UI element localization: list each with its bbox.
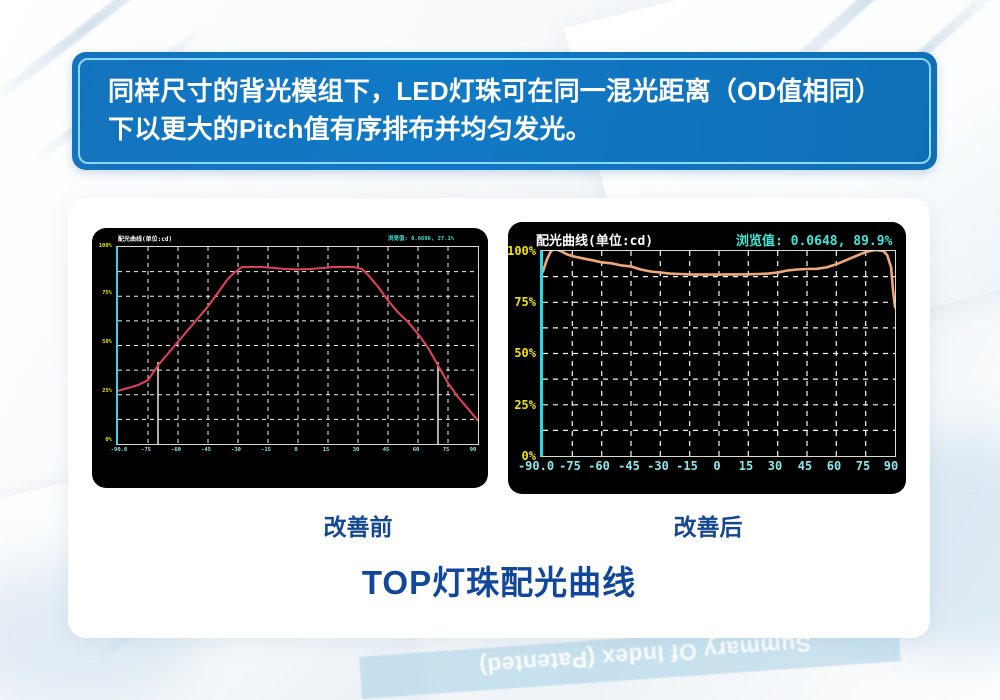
x-tick-before-0: 0: [281, 447, 311, 453]
callout-text: 同样尺寸的背光模组下，LED灯珠可在同一混光距离（OD值相同）下以更大的Pitc…: [108, 72, 907, 148]
caption-after: 改善后: [578, 508, 838, 542]
x-tick-before-90: 90: [458, 447, 488, 453]
y-tick-after-25: 25%: [508, 398, 536, 412]
y-tick-before-50: 50%: [92, 339, 112, 345]
x-tick-before-15: 15: [311, 447, 341, 453]
chart-svg-before: [118, 247, 478, 444]
chart-title-before: 配光曲线(单位:cd): [118, 234, 172, 243]
x-tick-before--45: -45: [191, 447, 221, 453]
x-tick-before-45: 45: [371, 447, 401, 453]
x-tick-before--30: -30: [221, 447, 251, 453]
chart-title-after: 配光曲线(单位:cd): [536, 230, 653, 249]
y-tick-after-50: 50%: [508, 346, 536, 360]
y-tick-before-100: 100%: [92, 243, 112, 249]
x-tick-before--60: -60: [161, 447, 191, 453]
chart-svg-after: [543, 251, 895, 456]
x-tick-after-90: 90: [868, 459, 906, 473]
x-tick-before--90: -90.0: [104, 447, 134, 453]
plot-area-after: [540, 250, 896, 457]
y-tick-after-75: 75%: [508, 295, 536, 309]
y-tick-after-100: 100%: [508, 244, 536, 258]
x-tick-before-60: 60: [401, 447, 431, 453]
x-tick-before-30: 30: [341, 447, 371, 453]
chart-panel-before: 配光曲线(单位:cd) 浏览值: 0.6696, 27.1% 100% 75% …: [92, 228, 488, 488]
x-tick-before--75: -75: [131, 447, 161, 453]
plot-area-before: [116, 246, 479, 445]
y-tick-before-0: 0%: [92, 437, 112, 443]
chart-panel-after: 配光曲线(单位:cd) 浏览值: 0.0648, 89.9% 100% 75% …: [508, 222, 906, 494]
chart-readout-before: 浏览值: 0.6696, 27.1%: [388, 234, 454, 242]
caption-before: 改善前: [228, 508, 488, 542]
x-tick-before--15: -15: [251, 447, 281, 453]
callout-banner: 同样尺寸的背光模组下，LED灯珠可在同一混光距离（OD值相同）下以更大的Pitc…: [72, 52, 937, 170]
x-tick-before-75: 75: [431, 447, 461, 453]
y-tick-before-75: 75%: [92, 290, 112, 296]
curve-after: [543, 251, 895, 307]
content-card: 配光曲线(单位:cd) 浏览值: 0.6696, 27.1% 100% 75% …: [68, 198, 930, 638]
y-tick-before-25: 25%: [92, 388, 112, 394]
page-title: TOP灯珠配光曲线: [68, 556, 930, 604]
chart-readout-after: 浏览值: 0.0648, 89.9%: [736, 230, 892, 249]
